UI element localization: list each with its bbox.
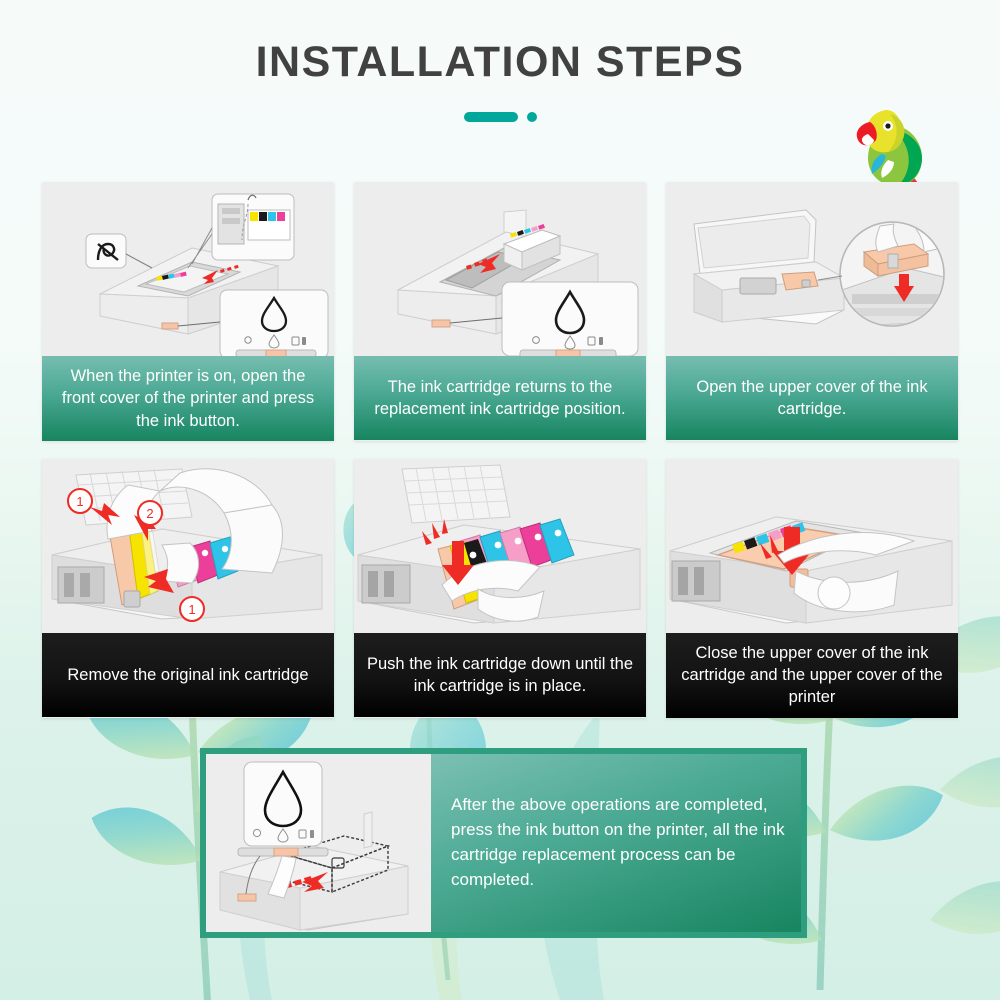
step-caption: The ink cartridge returns to the replace… <box>354 356 646 440</box>
marker-2: 2 <box>146 506 153 521</box>
page-title: INSTALLATION STEPS <box>0 38 1000 87</box>
dash-icon <box>464 112 518 122</box>
open-upper-cover-illustration <box>666 182 958 356</box>
press-ink-button-illustration <box>206 754 431 932</box>
poster-root: INSTALLATION STEPS <box>0 0 1000 1000</box>
close-upper-cover-illustration <box>666 459 958 633</box>
marker-3: 1 <box>188 602 195 617</box>
steps-row-2: 1 2 1 Remove the original ink cartridge <box>42 459 958 718</box>
step-caption: When the printer is on, open the front c… <box>42 356 334 441</box>
step-card-3[interactable]: Open the upper cover of the ink cartridg… <box>666 182 958 441</box>
push-cartridge-down-illustration <box>354 459 646 633</box>
final-step-panel[interactable]: After the above operations are completed… <box>200 748 807 938</box>
printer-front-cover-open-illustration <box>42 182 334 356</box>
steps-row-1: When the printer is on, open the front c… <box>42 182 958 441</box>
remove-original-cartridge-illustration: 1 2 1 <box>42 459 334 633</box>
final-step-caption: After the above operations are completed… <box>431 754 801 932</box>
steps-grid: When the printer is on, open the front c… <box>42 182 958 736</box>
step-caption: Push the ink cartridge down until the in… <box>354 633 646 717</box>
step-caption: Remove the original ink cartridge <box>42 633 334 717</box>
step-card-5[interactable]: Push the ink cartridge down until the in… <box>354 459 646 718</box>
step-caption: Close the upper cover of the ink cartrid… <box>666 633 958 718</box>
step-card-4[interactable]: 1 2 1 Remove the original ink cartridge <box>42 459 334 718</box>
step-card-1[interactable]: When the printer is on, open the front c… <box>42 182 334 441</box>
cartridge-returns-to-position-illustration <box>354 182 646 356</box>
step-card-2[interactable]: The ink cartridge returns to the replace… <box>354 182 646 441</box>
dot-icon <box>527 112 537 122</box>
step-card-6[interactable]: Close the upper cover of the ink cartrid… <box>666 459 958 718</box>
marker-1: 1 <box>76 494 83 509</box>
step-caption: Open the upper cover of the ink cartridg… <box>666 356 958 440</box>
